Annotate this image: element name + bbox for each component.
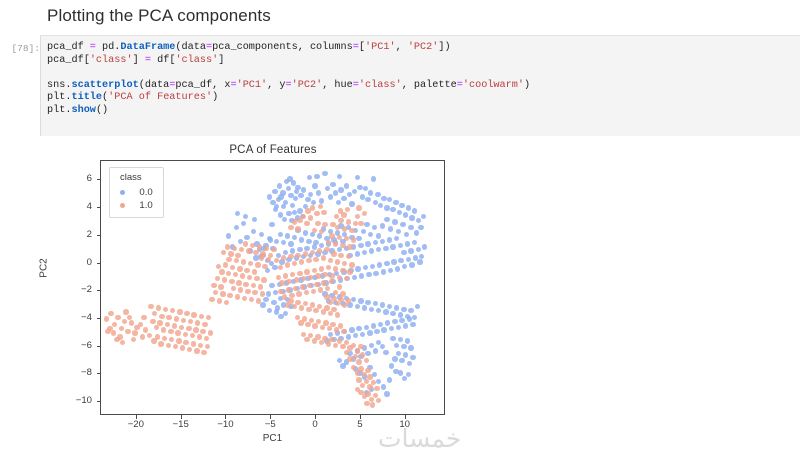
- scatter-point: [376, 379, 381, 384]
- scatter-point: [224, 300, 229, 305]
- scatter-point: [259, 232, 264, 237]
- scatter-point: [362, 305, 367, 310]
- scatter-point: [157, 320, 162, 325]
- scatter-point: [211, 283, 216, 288]
- scatter-point: [365, 368, 370, 373]
- scatter-point: [246, 248, 251, 253]
- scatter-point: [383, 350, 388, 355]
- scatter-point: [155, 334, 160, 339]
- scatter-point: [390, 207, 395, 212]
- scatter-point: [356, 359, 361, 364]
- scatter-point: [180, 345, 185, 350]
- x-axis-tick-label: −15: [161, 419, 201, 430]
- scatter-point: [373, 301, 378, 306]
- scatter-point: [346, 254, 351, 259]
- scatter-point: [253, 250, 258, 255]
- scatter-point: [108, 311, 113, 316]
- scatter-point: [388, 268, 393, 273]
- scatter-point: [278, 265, 283, 270]
- scatter-point: [258, 284, 263, 289]
- scatter-point: [225, 244, 230, 249]
- scatter-point: [388, 226, 393, 231]
- scatter-point: [364, 401, 369, 406]
- scatter-point: [226, 233, 231, 238]
- scatter-point: [337, 284, 342, 289]
- scatter-point: [243, 282, 248, 287]
- x-axis-tick-label: −20: [116, 419, 156, 430]
- scatter-point: [376, 233, 381, 238]
- scatter-point: [299, 237, 304, 242]
- scatter-point: [228, 251, 233, 256]
- scatter-point: [373, 271, 378, 276]
- scatter-point: [163, 307, 168, 312]
- scatter-point: [399, 318, 404, 323]
- scatter-point: [356, 326, 361, 331]
- scatter-point: [197, 334, 202, 339]
- scatter-point: [403, 352, 408, 357]
- scatter-point: [403, 323, 408, 328]
- scatter-point: [279, 280, 284, 285]
- scatter-point: [359, 273, 364, 278]
- scatter-point: [285, 233, 290, 238]
- scatter-point: [377, 262, 382, 267]
- legend-item: 1.0: [117, 199, 153, 212]
- scatter-point: [402, 264, 407, 269]
- scatter-point: [277, 183, 282, 188]
- scatter-point: [322, 171, 327, 176]
- scatter-point: [274, 309, 279, 314]
- scatter-point: [367, 374, 372, 379]
- scatter-point: [324, 247, 329, 252]
- scatter-point: [330, 182, 335, 187]
- scatter-point: [295, 253, 300, 258]
- scatter-point: [380, 302, 385, 307]
- scatter-point: [370, 402, 375, 407]
- scatter-point: [122, 319, 127, 324]
- scatter-point: [398, 370, 403, 375]
- scatter-point: [408, 345, 413, 350]
- scatter-point: [336, 200, 341, 205]
- scatter-point: [254, 276, 259, 281]
- scatter-point: [389, 363, 394, 368]
- scatter-point: [361, 229, 366, 234]
- scatter-point: [255, 262, 260, 267]
- scatter-point: [380, 239, 385, 244]
- scatter-point: [267, 308, 272, 313]
- scatter-point: [328, 194, 333, 199]
- scatter-point: [241, 259, 246, 264]
- scatter-point: [209, 297, 214, 302]
- code-editor[interactable]: pca_df = pd.DataFrame(data=pca_component…: [40, 35, 800, 138]
- scatter-point: [340, 291, 345, 296]
- y-axis-tick: [97, 263, 101, 264]
- scatter-point: [412, 315, 417, 320]
- scatter-point: [409, 215, 414, 220]
- scatter-point: [239, 247, 244, 252]
- scatter-point: [274, 239, 279, 244]
- scatter-point: [234, 258, 239, 263]
- scatter-point: [297, 218, 302, 223]
- scatter-point: [152, 311, 157, 316]
- scatter-point: [230, 265, 235, 270]
- scatter-point: [181, 318, 186, 323]
- scatter-point: [353, 333, 358, 338]
- scatter-point: [344, 236, 349, 241]
- scatter-point: [380, 344, 385, 349]
- scatter-point: [409, 262, 414, 267]
- scatter-point: [140, 334, 145, 339]
- scatter-point: [376, 308, 381, 313]
- scatter-point: [360, 352, 365, 357]
- scatter-point: [184, 311, 189, 316]
- scatter-point: [406, 372, 411, 377]
- scatter-point: [347, 244, 352, 249]
- scatter-point: [194, 348, 199, 353]
- scatter-point: [111, 330, 116, 335]
- scatter-point: [288, 241, 293, 246]
- scatter-point: [314, 211, 319, 216]
- x-axis-tick: [181, 415, 182, 419]
- scatter-point: [355, 214, 360, 219]
- scatter-point: [148, 304, 153, 309]
- scatter-point: [227, 293, 232, 298]
- scatter-point: [183, 332, 188, 337]
- scatter-point: [257, 244, 262, 249]
- scatter-point: [286, 186, 291, 191]
- scatter-point: [315, 221, 320, 226]
- scatter-plot-axes: class 0.0 1.0: [100, 160, 445, 415]
- scatter-point: [188, 319, 193, 324]
- scatter-point: [347, 192, 352, 197]
- scatter-point: [260, 251, 265, 256]
- scatter-point: [406, 205, 411, 210]
- scatter-point: [312, 228, 317, 233]
- scatter-point: [337, 235, 342, 240]
- scatter-point: [226, 257, 231, 262]
- scatter-point: [404, 232, 409, 237]
- scatter-point: [173, 344, 178, 349]
- scatter-point: [338, 323, 343, 328]
- scatter-point: [362, 250, 367, 255]
- x-axis-tick: [270, 415, 271, 419]
- scatter-point: [391, 259, 396, 264]
- scatter-point: [346, 334, 351, 339]
- scatter-point: [374, 386, 379, 391]
- scatter-point: [398, 312, 403, 317]
- scatter-point: [316, 190, 321, 195]
- scatter-point: [315, 334, 320, 339]
- scatter-point: [162, 336, 167, 341]
- chart-legend[interactable]: class 0.0 1.0: [109, 167, 164, 218]
- scatter-point: [342, 226, 347, 231]
- scatter-point: [396, 325, 401, 330]
- scatter-point: [372, 225, 377, 230]
- scatter-point: [378, 203, 383, 208]
- scatter-point: [304, 290, 309, 295]
- scatter-point: [321, 255, 326, 260]
- y-axis-tick-label: −6: [58, 340, 92, 351]
- x-axis-tick: [136, 415, 137, 419]
- scatter-point: [328, 258, 333, 263]
- scatter-point: [340, 268, 345, 273]
- scatter-point: [413, 255, 418, 260]
- scatter-point: [250, 243, 255, 248]
- watermark-text: خمسات: [378, 424, 461, 453]
- scatter-point: [195, 320, 200, 325]
- scatter-point: [365, 351, 370, 356]
- scatter-point: [376, 398, 381, 403]
- scatter-point: [174, 316, 179, 321]
- scatter-point: [412, 240, 417, 245]
- scatter-point: [371, 380, 376, 385]
- scatter-point: [340, 363, 345, 368]
- scatter-point: [408, 225, 413, 230]
- scatter-point: [241, 221, 246, 226]
- scatter-point: [365, 391, 370, 396]
- scatter-point: [335, 259, 340, 264]
- scatter-point: [159, 314, 164, 319]
- scatter-point: [416, 247, 421, 252]
- scatter-point: [308, 192, 313, 197]
- scatter-point: [381, 269, 386, 274]
- scatter-point: [201, 350, 206, 355]
- scatter-point: [373, 348, 378, 353]
- code-cell[interactable]: [78]: pca_df = pd.DataFrame(data=pca_com…: [0, 35, 800, 136]
- scatter-point: [322, 222, 327, 227]
- notebook-page: Plotting the PCA components [78]: pca_df…: [0, 0, 800, 460]
- scatter-point: [367, 330, 372, 335]
- scatter-point: [245, 289, 250, 294]
- x-axis-tick-label: −10: [205, 419, 245, 430]
- scatter-point: [407, 361, 412, 366]
- scatter-point: [349, 327, 354, 332]
- scatter-point: [158, 341, 163, 346]
- scatter-point: [120, 340, 125, 345]
- scatter-point: [303, 251, 308, 256]
- y-axis-tick: [97, 318, 101, 319]
- scatter-point: [397, 210, 402, 215]
- scatter-point: [358, 298, 363, 303]
- scatter-point: [299, 305, 304, 310]
- scatter-point: [285, 262, 290, 267]
- scatter-point: [282, 217, 287, 222]
- scatter-point: [415, 304, 420, 309]
- scatter-point: [288, 298, 293, 303]
- scatter-point: [123, 309, 128, 314]
- scatter-point: [337, 275, 342, 280]
- scatter-point: [358, 366, 363, 371]
- scatter-point: [202, 322, 207, 327]
- scatter-point: [270, 200, 275, 205]
- scatter-point: [278, 194, 283, 199]
- scatter-point: [261, 277, 266, 282]
- scatter-point: [398, 337, 403, 342]
- scatter-point: [362, 211, 367, 216]
- scatter-point: [294, 277, 299, 282]
- scatter-point: [407, 316, 412, 321]
- scatter-point: [186, 326, 191, 331]
- scatter-point: [295, 226, 300, 231]
- scatter-point: [240, 273, 245, 278]
- scatter-point: [371, 323, 376, 328]
- scatter-point: [387, 237, 392, 242]
- scatter-point: [287, 176, 292, 181]
- scatter-point: [356, 377, 361, 382]
- scatter-point: [324, 294, 329, 299]
- scatter-point: [310, 205, 315, 210]
- y-axis-tick-label: −8: [58, 367, 92, 378]
- scatter-point: [281, 240, 286, 245]
- scatter-point: [400, 222, 405, 227]
- scatter-point: [381, 327, 386, 332]
- scatter-point: [307, 175, 312, 180]
- scatter-point: [373, 240, 378, 245]
- scatter-point: [183, 340, 188, 345]
- scatter-point: [325, 286, 330, 291]
- scatter-point: [238, 287, 243, 292]
- scatter-point: [278, 232, 283, 237]
- scatter-point: [204, 336, 209, 341]
- scatter-point: [231, 286, 236, 291]
- scatter-point: [301, 187, 306, 192]
- scatter-point: [200, 329, 205, 334]
- scatter-point: [392, 356, 397, 361]
- scatter-point: [371, 176, 376, 181]
- scatter-point: [351, 237, 356, 242]
- scatter-point: [384, 261, 389, 266]
- scatter-point: [138, 322, 143, 327]
- scatter-point: [206, 315, 211, 320]
- scatter-point: [292, 235, 297, 240]
- cell-prompt-label: [78]:: [8, 43, 40, 54]
- legend-item: 0.0: [117, 186, 153, 199]
- scatter-point: [272, 189, 277, 194]
- scatter-point: [292, 261, 297, 266]
- scatter-point: [166, 315, 171, 320]
- scatter-point: [278, 314, 283, 319]
- scatter-point: [315, 273, 320, 278]
- scatter-point: [131, 337, 136, 342]
- scatter-point: [390, 311, 395, 316]
- scatter-point: [418, 225, 423, 230]
- scatter-point: [412, 208, 417, 213]
- scatter-point: [274, 204, 279, 209]
- scatter-point: [387, 377, 392, 382]
- scatter-point: [340, 243, 345, 248]
- scatter-point: [347, 356, 352, 361]
- scatter-point: [352, 275, 357, 280]
- scatter-point: [356, 205, 361, 210]
- scatter-point: [325, 186, 330, 191]
- scatter-point: [401, 307, 406, 312]
- x-axis-tick: [315, 415, 316, 419]
- scatter-point: [234, 225, 239, 230]
- scatter-point: [344, 183, 349, 188]
- scatter-point: [310, 302, 315, 307]
- scatter-point: [125, 329, 130, 334]
- scatter-point: [364, 325, 369, 330]
- scatter-point: [175, 330, 180, 335]
- scatter-point: [393, 200, 398, 205]
- y-axis-tick: [97, 207, 101, 208]
- scatter-point: [302, 316, 307, 321]
- scatter-point: [360, 332, 365, 337]
- scatter-point: [349, 201, 354, 206]
- scatter-point: [179, 325, 184, 330]
- scatter-point: [187, 347, 192, 352]
- scatter-point: [367, 384, 372, 389]
- y-axis-tick-label: −2: [58, 284, 92, 295]
- scatter-point: [399, 203, 404, 208]
- scatter-point: [170, 308, 175, 313]
- scatter-point: [387, 197, 392, 202]
- scatter-point: [208, 330, 213, 335]
- y-axis-tick-label: 0: [58, 257, 92, 268]
- scatter-point: [281, 204, 286, 209]
- scatter-point: [176, 338, 181, 343]
- scatter-point: [199, 314, 204, 319]
- scatter-point: [235, 253, 240, 258]
- scatter-point: [264, 246, 269, 251]
- chart-title: PCA of Features: [100, 144, 446, 156]
- scatter-point: [318, 287, 323, 292]
- scatter-point: [410, 355, 415, 360]
- x-axis-tick: [225, 415, 226, 419]
- scatter-point: [191, 341, 196, 346]
- scatter-point: [165, 322, 170, 327]
- scatter-point: [282, 294, 287, 299]
- scatter-point: [311, 289, 316, 294]
- scatter-point: [383, 246, 388, 251]
- scatter-point: [398, 243, 403, 248]
- scatter-point: [390, 244, 395, 249]
- scatter-point: [383, 309, 388, 314]
- scatter-point: [253, 255, 258, 260]
- scatter-point: [401, 250, 406, 255]
- scatter-point: [387, 304, 392, 309]
- scatter-point: [244, 268, 249, 273]
- scatter-point: [337, 174, 342, 179]
- scatter-point: [298, 193, 303, 198]
- scatter-point: [215, 276, 220, 281]
- y-axis-tick: [97, 401, 101, 402]
- scatter-point: [260, 302, 265, 307]
- scatter-point: [267, 194, 272, 199]
- scatter-point: [296, 291, 301, 296]
- y-axis-tick-label: −10: [58, 395, 92, 406]
- scatter-point: [268, 253, 273, 258]
- scatter-point: [104, 316, 109, 321]
- scatter-point: [235, 294, 240, 299]
- scatter-point: [322, 272, 327, 277]
- scatter-point: [305, 197, 310, 202]
- scatter-point: [338, 187, 343, 192]
- scatter-point: [385, 320, 390, 325]
- scatter-point: [345, 207, 350, 212]
- scatter-point: [283, 273, 288, 278]
- scatter-point: [129, 320, 134, 325]
- y-axis-tick: [97, 290, 101, 291]
- scatter-point: [398, 258, 403, 263]
- scatter-point: [323, 320, 328, 325]
- legend-label-class-1: 1.0: [139, 200, 152, 211]
- scatter-point: [318, 204, 323, 209]
- scatter-point: [355, 304, 360, 309]
- scatter-point: [247, 275, 252, 280]
- scatter-point: [331, 296, 336, 301]
- scatter-point: [304, 221, 309, 226]
- scatter-point: [288, 225, 293, 230]
